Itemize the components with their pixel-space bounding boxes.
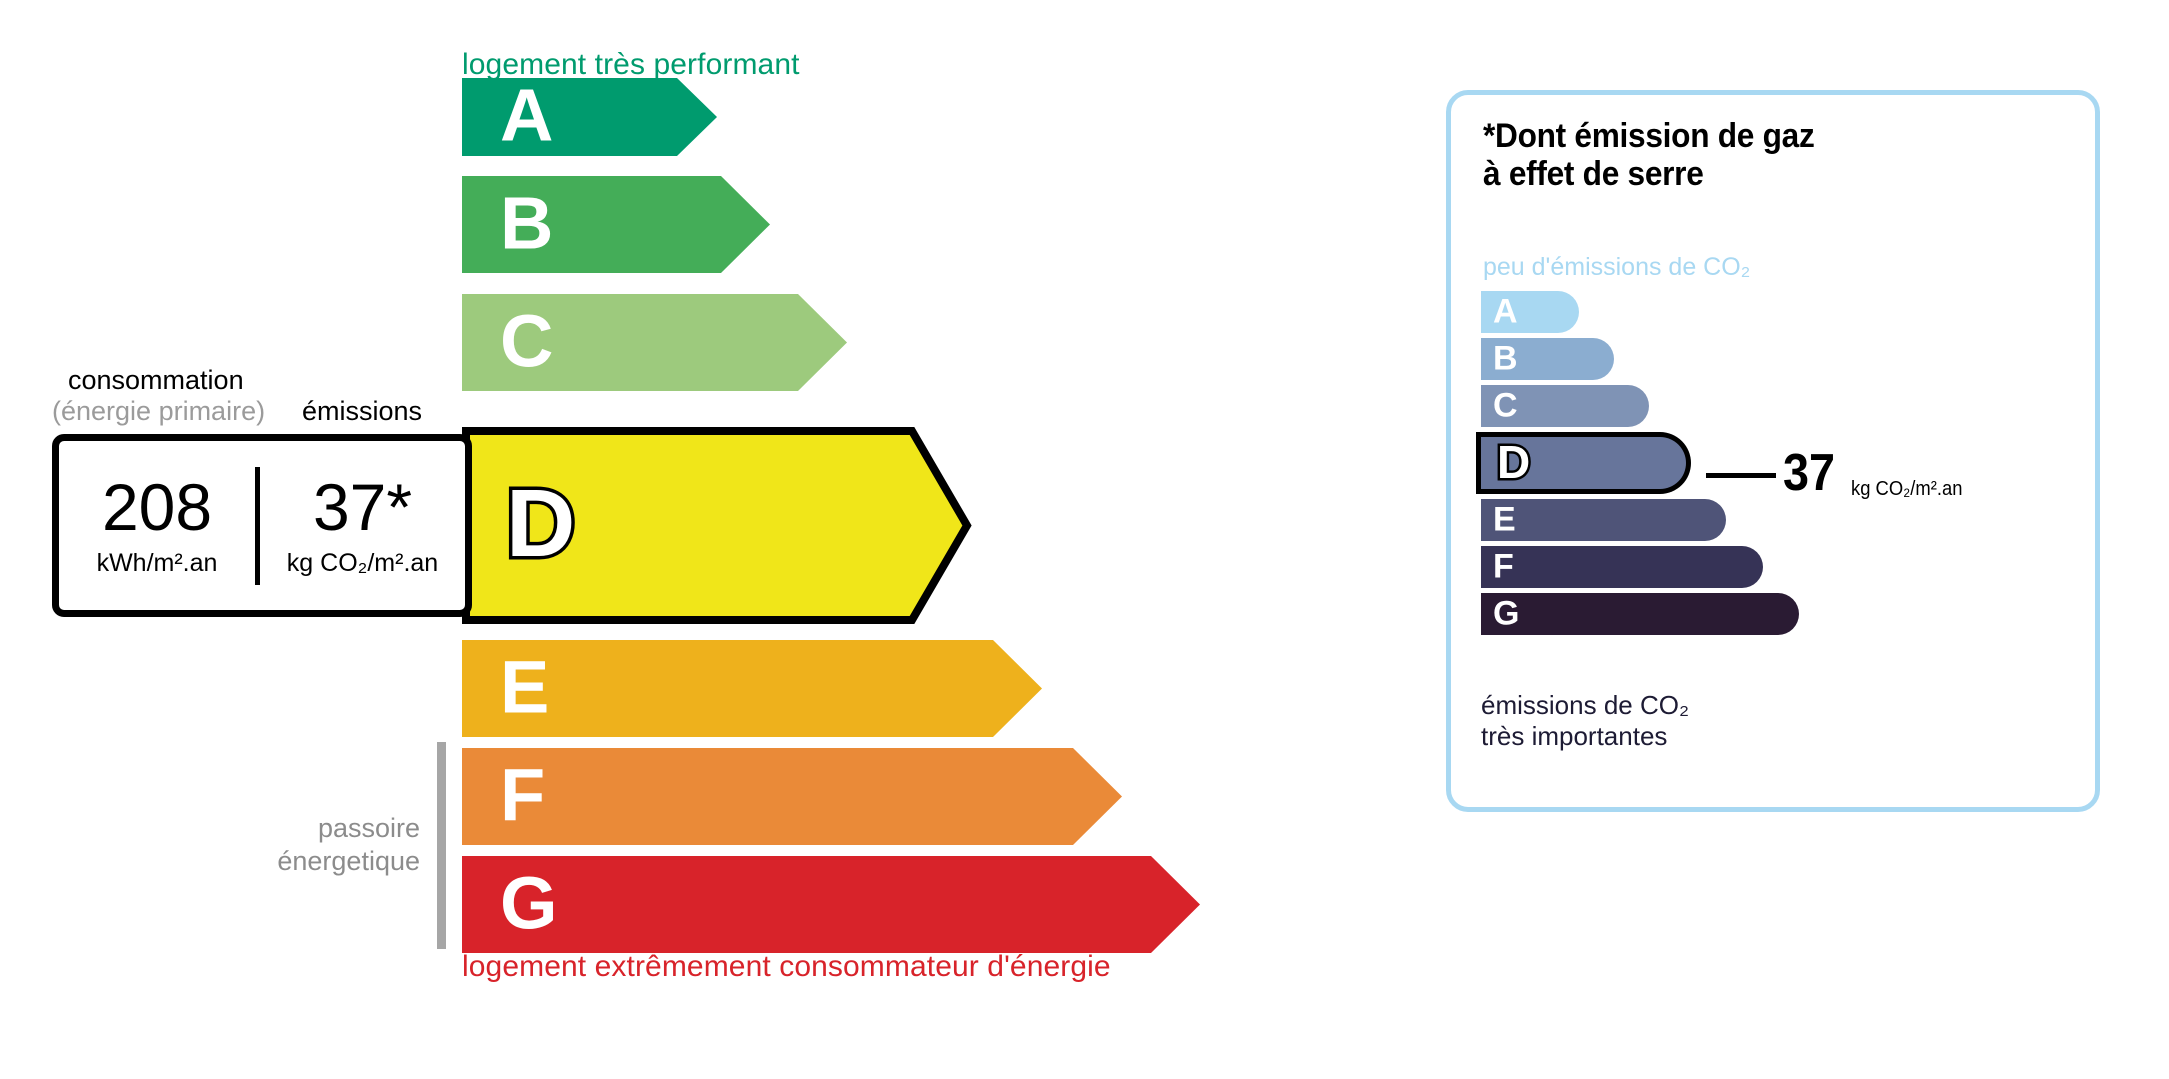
energy-bottom-caption: logement extrêmement consommateur d'éner…: [462, 950, 1111, 984]
co2-bar-c-letter: C: [1493, 388, 1518, 422]
value-box: 208 kWh/m².an 37* kg CO₂/m².an: [52, 434, 472, 617]
co2-bar-f: [1481, 546, 1763, 588]
co2-callout-unit: kg CO₂/m².an: [1851, 478, 1962, 501]
co2-bar-e-letter: E: [1493, 502, 1516, 536]
primary-energy-header: (énergie primaire): [52, 396, 265, 427]
energy-band-a-letter: A: [500, 79, 553, 153]
co2-bar-a-letter: A: [1493, 294, 1518, 328]
energy-band-c[interactable]: C: [462, 294, 847, 391]
passoire-line-2: énergetique: [200, 845, 420, 878]
energy-band-d-letter: D: [506, 476, 575, 572]
energy-band-c-letter: C: [500, 304, 553, 378]
energy-band-e-letter: E: [500, 650, 549, 724]
dpe-diagram: logement très performant A B C: [0, 0, 2169, 1079]
co2-bottom-line-2: très importantes: [1481, 721, 1689, 752]
co2-bar-e: [1481, 499, 1726, 541]
co2-bar-f-letter: F: [1493, 549, 1514, 583]
co2-bar-d-letter: D: [1497, 439, 1530, 485]
co2-callout-leader-line: [1706, 473, 1776, 478]
co2-title-line-1: *Dont émission de gaz: [1483, 117, 1814, 155]
energy-consumption-chart: logement très performant A B C: [0, 0, 1340, 1079]
passoire-energetique-label: passoire énergetique: [200, 812, 420, 878]
energy-band-g-letter: G: [500, 866, 558, 940]
energy-band-f[interactable]: F: [462, 748, 1122, 845]
co2-callout-value: 37: [1783, 447, 1835, 499]
co2-bar-g: [1481, 593, 1799, 635]
co2-top-caption: peu d'émissions de CO₂: [1483, 253, 1750, 282]
co2-bottom-caption: émissions de CO₂ très importantes: [1481, 690, 1689, 752]
energy-band-d[interactable]: D: [462, 427, 974, 624]
co2-bottom-line-1: émissions de CO₂: [1481, 690, 1689, 721]
co2-emissions-panel: *Dont émission de gaz à effet de serre p…: [1446, 90, 2100, 812]
co2-title-line-2: à effet de serre: [1483, 155, 1814, 193]
co2-bar-g-letter: G: [1493, 596, 1519, 630]
passoire-energetique-bar: [437, 742, 446, 949]
energy-band-a[interactable]: A: [462, 78, 717, 156]
energy-band-f-letter: F: [500, 758, 545, 832]
emission-value: 37*: [313, 474, 412, 540]
co2-bar-b-letter: B: [1493, 341, 1518, 375]
energy-band-b-letter: B: [500, 186, 553, 260]
energy-band-b[interactable]: B: [462, 176, 770, 273]
emission-cell: 37* kg CO₂/m².an: [260, 474, 465, 578]
consumption-header: consommation: [68, 365, 244, 396]
consumption-cell: 208 kWh/m².an: [59, 474, 255, 578]
passoire-line-1: passoire: [200, 812, 420, 845]
emissions-header: émissions: [302, 396, 422, 427]
co2-panel-title: *Dont émission de gaz à effet de serre: [1483, 117, 1814, 193]
energy-band-e[interactable]: E: [462, 640, 1042, 737]
consumption-unit: kWh/m².an: [97, 549, 218, 578]
emission-unit: kg CO₂/m².an: [287, 549, 438, 578]
consumption-value: 208: [102, 474, 212, 540]
energy-band-g[interactable]: G: [462, 856, 1200, 953]
